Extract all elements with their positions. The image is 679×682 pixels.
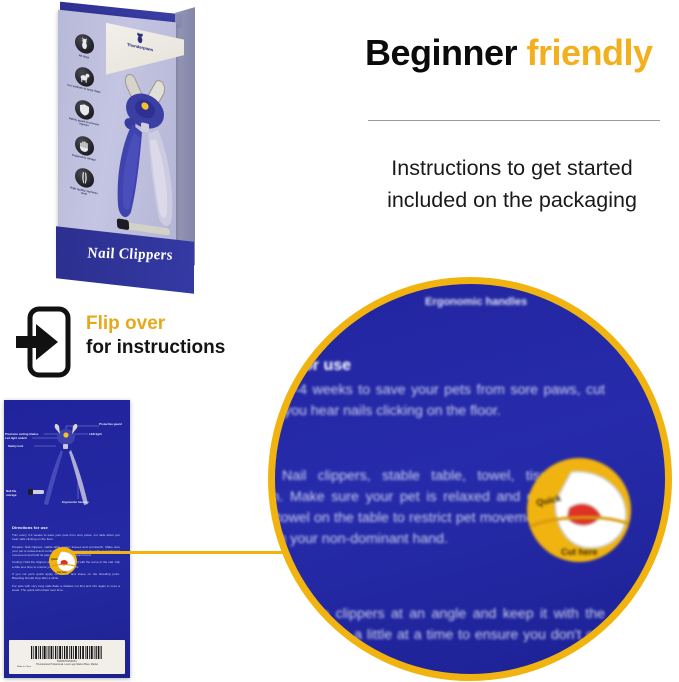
panel-footer-origin-row: Made in China xyxy=(17,666,117,668)
diagram-label-ergonomic-handles: Ergonomic handles xyxy=(62,500,89,504)
diagram-label-protective-guard: Protective guard xyxy=(99,422,122,426)
panel-footer-origin: Made in China xyxy=(17,666,31,668)
flip-over-callout: Flip over for instructions xyxy=(14,306,254,382)
diagram-label-led-switch: Led light switch xyxy=(5,436,27,440)
phone-flip-arrow-icon xyxy=(14,306,72,378)
headline-part2: friendly xyxy=(527,32,653,73)
magnified-prepare-label: Prepare: xyxy=(268,468,271,484)
page-subcopy: Instructions to get started included on … xyxy=(352,152,672,216)
feature-icon-column: All dogs For medium to large dogs xyxy=(67,31,103,249)
magnified-heading: Directions for use xyxy=(268,357,615,375)
page-headline: Beginner friendly xyxy=(365,32,665,74)
cat-icon xyxy=(75,32,94,55)
barcode-icon xyxy=(30,646,104,659)
feature-item: All dogs xyxy=(67,31,101,62)
dog-icon xyxy=(75,65,94,88)
barcode-number: 5060879150041 xyxy=(57,660,77,663)
flip-over-line1: Flip over xyxy=(86,312,266,336)
diagram-label-safety-lock: Safety lock xyxy=(8,444,24,448)
magnified-content: Ergonomic handles Directions for use Tri… xyxy=(275,284,665,674)
infographic-canvas: Thunderpaws All dogs xyxy=(0,0,679,682)
magnified-top-label: Ergonomic handles xyxy=(425,296,527,308)
product-name-label: Nail Clippers xyxy=(69,245,190,265)
headline-divider xyxy=(368,120,660,121)
shield-icon xyxy=(75,98,94,121)
panel-paragraph: Trim every 3-4 weeks to save your pets f… xyxy=(12,533,120,541)
feature-item: Ergonomic design xyxy=(67,132,101,163)
product-box-front: Thunderpaws All dogs xyxy=(52,6,212,298)
magnified-clipper-handle xyxy=(309,277,355,326)
clipper-parts-diagram: Protective guard Precision cutting blade… xyxy=(4,404,130,520)
svg-text:Quick: Quick xyxy=(51,558,58,561)
panel-paragraph: For pets with very long nails flake a sh… xyxy=(12,584,120,592)
diagram-label-led-light: LED light xyxy=(89,432,102,436)
svg-text:Cut here: Cut here xyxy=(57,571,67,574)
magnified-paragraph-1: Trim every 3-4 weeks to save your pets f… xyxy=(268,380,605,422)
diagram-label-nail-file-2: storage xyxy=(6,493,17,497)
quick-diagram-badge-large: Quick Cut here xyxy=(525,456,633,564)
magnified-detail-circle: Ergonomic handles Directions for use Tri… xyxy=(268,277,672,681)
feature-item: High quality stainless steel xyxy=(67,165,101,199)
cut-here-label: Cut here xyxy=(561,547,598,557)
packaging-back-panel: Protective guard Precision cutting blade… xyxy=(4,400,130,678)
nail-clipper-product-image xyxy=(104,56,186,254)
magnified-cutting-text: Hold the clippers at an angle and keep i… xyxy=(268,606,605,664)
flip-over-line2: for instructions xyxy=(86,336,266,360)
headline-part1: Beginner xyxy=(365,32,517,73)
magnified-paragraph-3: Cutting: Hold the clippers at an angle a… xyxy=(268,604,605,667)
magnifier-connector-line xyxy=(72,551,304,554)
hand-icon xyxy=(75,134,94,157)
flip-over-text: Flip over for instructions xyxy=(86,312,266,360)
panel-footer-address: Thunderpaws Professional, Level Lego Mar… xyxy=(36,664,98,666)
feature-item: Safety guard to prevent injuries xyxy=(67,96,101,130)
blade-icon xyxy=(75,167,94,190)
panel-directions-heading: Directions for use xyxy=(12,525,48,530)
subcopy-line2: included on the packaging xyxy=(352,184,672,216)
subcopy-line1: Instructions to get started xyxy=(352,152,672,184)
feature-item: For medium to large dogs xyxy=(67,63,101,94)
barcode-area: 5060879150041 Thunderpaws Professional, … xyxy=(9,640,125,674)
feature-caption: High quality stainless steel xyxy=(67,186,101,200)
